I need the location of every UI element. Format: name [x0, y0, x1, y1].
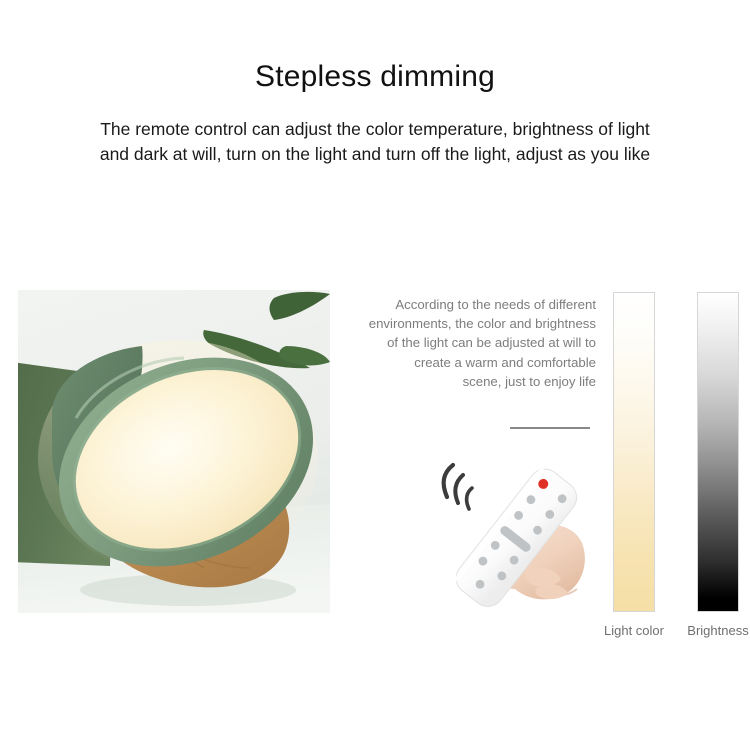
- copy-line-4: create a warm and comfortable: [325, 353, 596, 372]
- copy-line-5: scene, just to enjoy life: [325, 372, 596, 391]
- page-subtitle: The remote control can adjust the color …: [40, 117, 710, 167]
- copy-line-2: environments, the color and brightness: [325, 314, 596, 333]
- product-photo-image: [18, 290, 330, 613]
- signal-waves-icon: [444, 465, 472, 509]
- product-photo: [18, 290, 330, 613]
- subtitle-line-2: and dark at will, turn on the light and …: [40, 142, 710, 167]
- remote-control-image: [425, 445, 600, 615]
- brightness-label: Brightness: [665, 622, 750, 640]
- copy-line-1: According to the needs of different: [325, 295, 596, 314]
- page-title: Stepless dimming: [0, 58, 750, 96]
- copy-line-3: of the light can be adjusted at will to: [325, 333, 596, 352]
- subtitle-line-1: The remote control can adjust the color …: [40, 117, 710, 142]
- remote-control-illustration: [425, 445, 600, 615]
- product-feature-page: Stepless dimming The remote control can …: [0, 0, 750, 750]
- light-color-gradient-bar[interactable]: [613, 292, 655, 612]
- section-divider: [510, 427, 590, 429]
- feature-description: According to the needs of different envi…: [325, 295, 596, 391]
- brightness-gradient-bar[interactable]: [697, 292, 739, 612]
